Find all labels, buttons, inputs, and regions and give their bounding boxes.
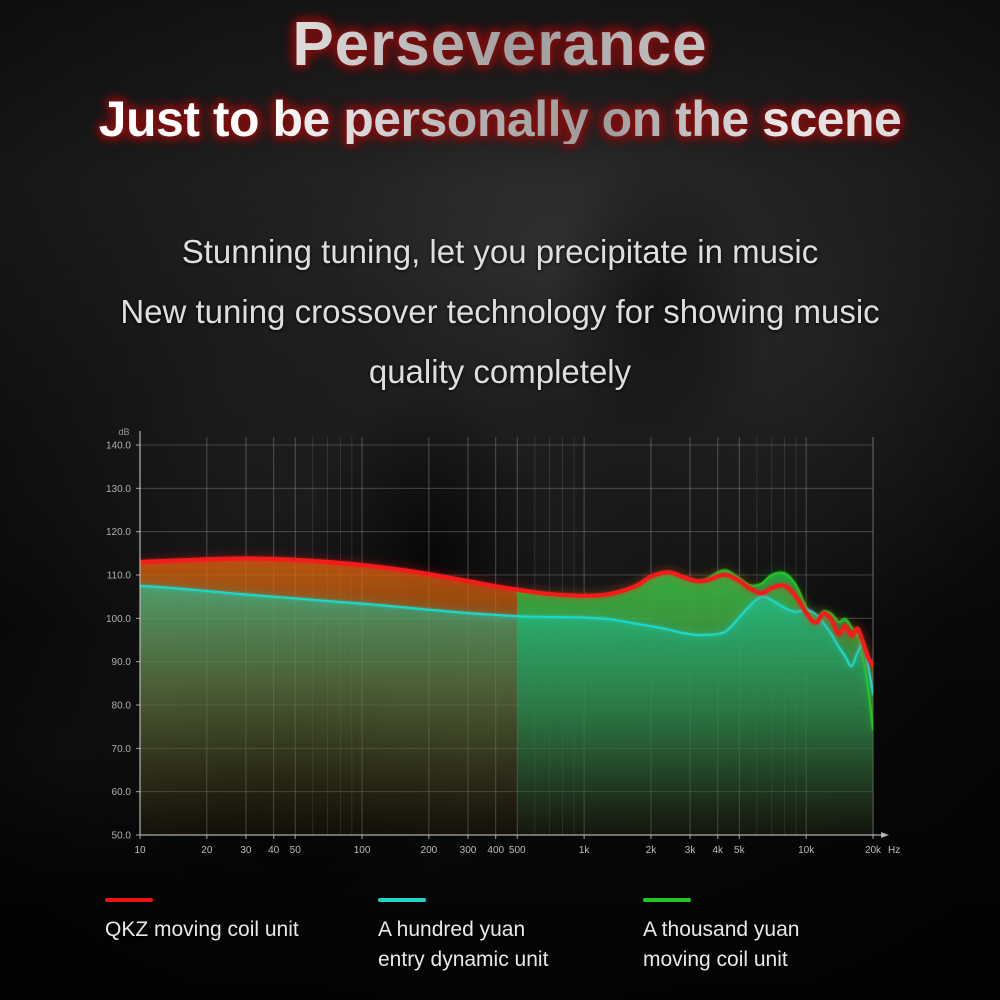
headline-primary: Perseverance [0,14,1000,76]
legend-label-hundred-yuan-line1: A hundred yuan [378,915,548,945]
legend-label-thousand-yuan-line2: moving coil unit [643,945,799,975]
y-tick-label: 130.0 [106,484,131,495]
x-tick-label: 300 [460,845,477,856]
y-tick-label: 80.0 [112,701,132,712]
y-tick-label: 140.0 [106,441,131,452]
x-axis-unit-label: Hz [888,845,900,856]
x-tick-label: 3k [685,845,697,856]
legend-label-hundred-yuan-line2: entry dynamic unit [378,945,548,975]
legend-item-qkz: QKZ moving coil unit [105,898,299,945]
x-tick-label: 50 [290,845,302,856]
subtitle-line-1: Stunning tuning, let you precipitate in … [0,222,1000,282]
x-tick-label: 20k [865,845,882,856]
x-tick-label: 20 [201,845,213,856]
legend-item-thousand-yuan: A thousand yuan moving coil unit [643,898,799,975]
x-tick-label: 2k [646,845,658,856]
subtitle-block: Stunning tuning, let you precipitate in … [0,222,1000,402]
chart-y-tick-labels: 50.060.070.080.090.0100.0110.0120.0130.0… [106,441,131,842]
x-tick-label: 10 [134,845,146,856]
x-tick-label: 500 [509,845,526,856]
y-axis-unit-label: dB [118,427,129,437]
y-tick-label: 120.0 [106,527,131,538]
headline-secondary: Just to be personally on the scene [0,94,1000,144]
legend-label-thousand-yuan-line1: A thousand yuan [643,915,799,945]
x-tick-label: 1k [579,845,591,856]
x-tick-label: 100 [354,845,371,856]
x-tick-label: 4k [713,845,725,856]
x-tick-label: 10k [798,845,815,856]
chart-svg: 50.060.070.080.090.0100.0110.0120.0130.0… [95,415,915,875]
x-tick-label: 5k [734,845,746,856]
y-tick-label: 50.0 [112,831,132,842]
y-tick-label: 70.0 [112,744,132,755]
series-fill [140,586,873,835]
chart-legend: QKZ moving coil unit A hundred yuan entr… [95,898,925,988]
chart-fills [140,559,873,835]
legend-swatch-qkz [105,898,153,902]
x-tick-label: 30 [240,845,252,856]
y-tick-label: 100.0 [106,614,131,625]
subtitle-line-2: New tuning crossover technology for show… [0,282,1000,342]
subtitle-line-3: quality completely [0,342,1000,402]
legend-item-hundred-yuan: A hundred yuan entry dynamic unit [378,898,548,975]
legend-label-qkz-line1: QKZ moving coil unit [105,915,299,945]
x-tick-label: 400 [487,845,504,856]
x-tick-label: 40 [268,845,280,856]
legend-swatch-hundred-yuan [378,898,426,902]
y-tick-label: 90.0 [112,657,132,668]
legend-swatch-thousand-yuan [643,898,691,902]
header-block: Perseverance Just to be personally on th… [0,0,1000,144]
x-tick-label: 200 [421,845,438,856]
y-tick-label: 110.0 [107,571,132,582]
frequency-response-chart: 50.060.070.080.090.0100.0110.0120.0130.0… [95,415,915,875]
chart-x-tick-labels: 10203040501002003004005001k2k3k4k5k10k20… [134,845,882,856]
y-tick-label: 60.0 [112,787,132,798]
